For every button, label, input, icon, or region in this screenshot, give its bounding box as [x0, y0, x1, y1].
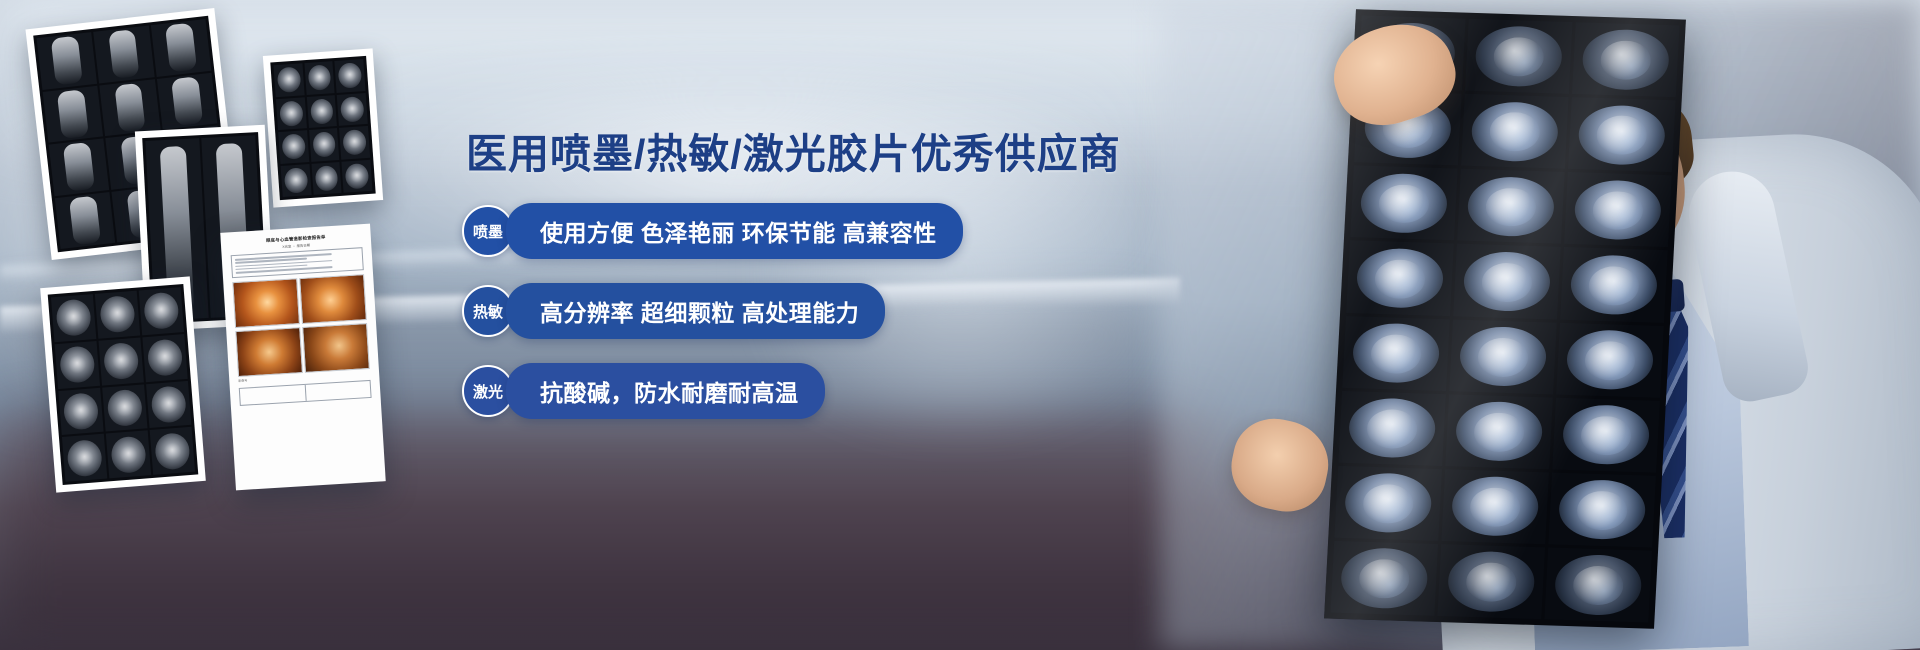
film-cell: [309, 128, 340, 161]
film-cell: [342, 159, 373, 192]
mri-slice: [1330, 541, 1438, 616]
film-cell: [139, 287, 184, 335]
mri-slice: [1461, 94, 1569, 169]
mri-slice: [1564, 172, 1672, 247]
mri-slice: [1544, 547, 1652, 622]
film-cell: [276, 97, 307, 130]
film-cell: [335, 59, 366, 92]
film-cell: [58, 387, 103, 435]
film-cell: [95, 291, 140, 339]
mri-slice: [1338, 391, 1446, 466]
mri-slice: [1560, 247, 1668, 322]
report-fundus-image: [299, 274, 366, 324]
film-plate: [48, 284, 199, 485]
banner-text-content: 医用喷墨/热敏/激光胶片优秀供应商 喷墨 使用方便 色泽艳丽 环保节能 高兼容性…: [462, 132, 1162, 443]
film-collage: 眼底与心血管造影检查报告单 X光室 ・ 报告日期 影像号: [0, 0, 430, 650]
film-cell: [339, 126, 370, 159]
film-cell: [106, 430, 151, 478]
film-cell: [274, 63, 305, 96]
mri-slice: [1449, 319, 1557, 394]
feature-row-thermal: 热敏 高分辨率 超细颗粒 高处理能力: [462, 283, 1162, 339]
page-title: 医用喷墨/热敏/激光胶片优秀供应商: [466, 132, 1162, 177]
report-footer-cell: [305, 381, 370, 401]
film-cell: [311, 161, 342, 194]
film-cell: [306, 95, 337, 128]
mri-slice: [1572, 22, 1680, 97]
mri-slice: [1548, 472, 1656, 547]
report-footer-table: [239, 380, 372, 406]
film-sheet-brain-grid: [40, 276, 206, 492]
mri-slice: [1465, 19, 1573, 94]
feature-pill-inkjet: 使用方便 色泽艳丽 环保节能 高兼容性: [506, 203, 963, 259]
film-cell: [337, 92, 368, 125]
report-fundus-image: [235, 327, 302, 377]
film-cell: [43, 85, 104, 142]
film-cell: [37, 32, 98, 89]
film-cell: [62, 434, 107, 482]
film-cell: [304, 61, 335, 94]
report-fundus-image: [302, 323, 369, 373]
feature-row-inkjet: 喷墨 使用方便 色泽艳丽 环保节能 高兼容性: [462, 203, 1162, 259]
mri-slice: [1568, 97, 1676, 172]
film-cell: [278, 130, 309, 163]
report-fundus-image: [232, 278, 299, 328]
film-cell: [51, 294, 96, 342]
doctor-photo: [1160, 0, 1920, 650]
film-cell: [281, 164, 312, 197]
film-cell: [146, 380, 191, 428]
film-cell: [55, 341, 100, 389]
film-cell: [100, 79, 161, 136]
mri-slice: [1453, 244, 1561, 319]
feature-pill-thermal: 高分辨率 超细颗粒 高处理能力: [506, 283, 885, 339]
mri-slice: [1437, 544, 1545, 619]
film-cell: [157, 72, 218, 129]
film-plate: [270, 56, 375, 200]
feature-row-laser: 激光 抗酸碱，防水耐磨耐高温: [462, 363, 1162, 419]
film-cell: [150, 427, 195, 475]
film-cell: [150, 19, 211, 76]
mri-slice: [1556, 322, 1664, 397]
film-cell: [102, 384, 147, 432]
mri-slice: [1350, 165, 1458, 240]
medical-film-banner: 眼底与心血管造影检查报告单 X光室 ・ 报告日期 影像号: [0, 0, 1920, 650]
feature-pill-laser: 抗酸碱，防水耐磨耐高温: [506, 363, 825, 419]
film-cell: [142, 334, 187, 382]
report-footer-cell: [240, 385, 306, 405]
report-sheet: 眼底与心血管造影检查报告单 X光室 ・ 报告日期 影像号: [220, 224, 385, 491]
mri-slice: [1552, 397, 1660, 472]
film-cell: [49, 138, 110, 195]
mri-slice: [1334, 466, 1442, 541]
mri-slice: [1346, 240, 1454, 315]
film-cell: [94, 26, 155, 83]
report-image-grid: [232, 274, 370, 376]
mri-slice: [1342, 316, 1450, 391]
mri-slice: [1441, 469, 1549, 544]
film-sheet-brain-small: [263, 48, 383, 207]
film-cell: [98, 337, 143, 385]
report-field-block: [231, 247, 364, 279]
film-cell: [55, 192, 116, 249]
mri-slice: [1457, 169, 1565, 244]
mri-slice: [1445, 394, 1553, 469]
